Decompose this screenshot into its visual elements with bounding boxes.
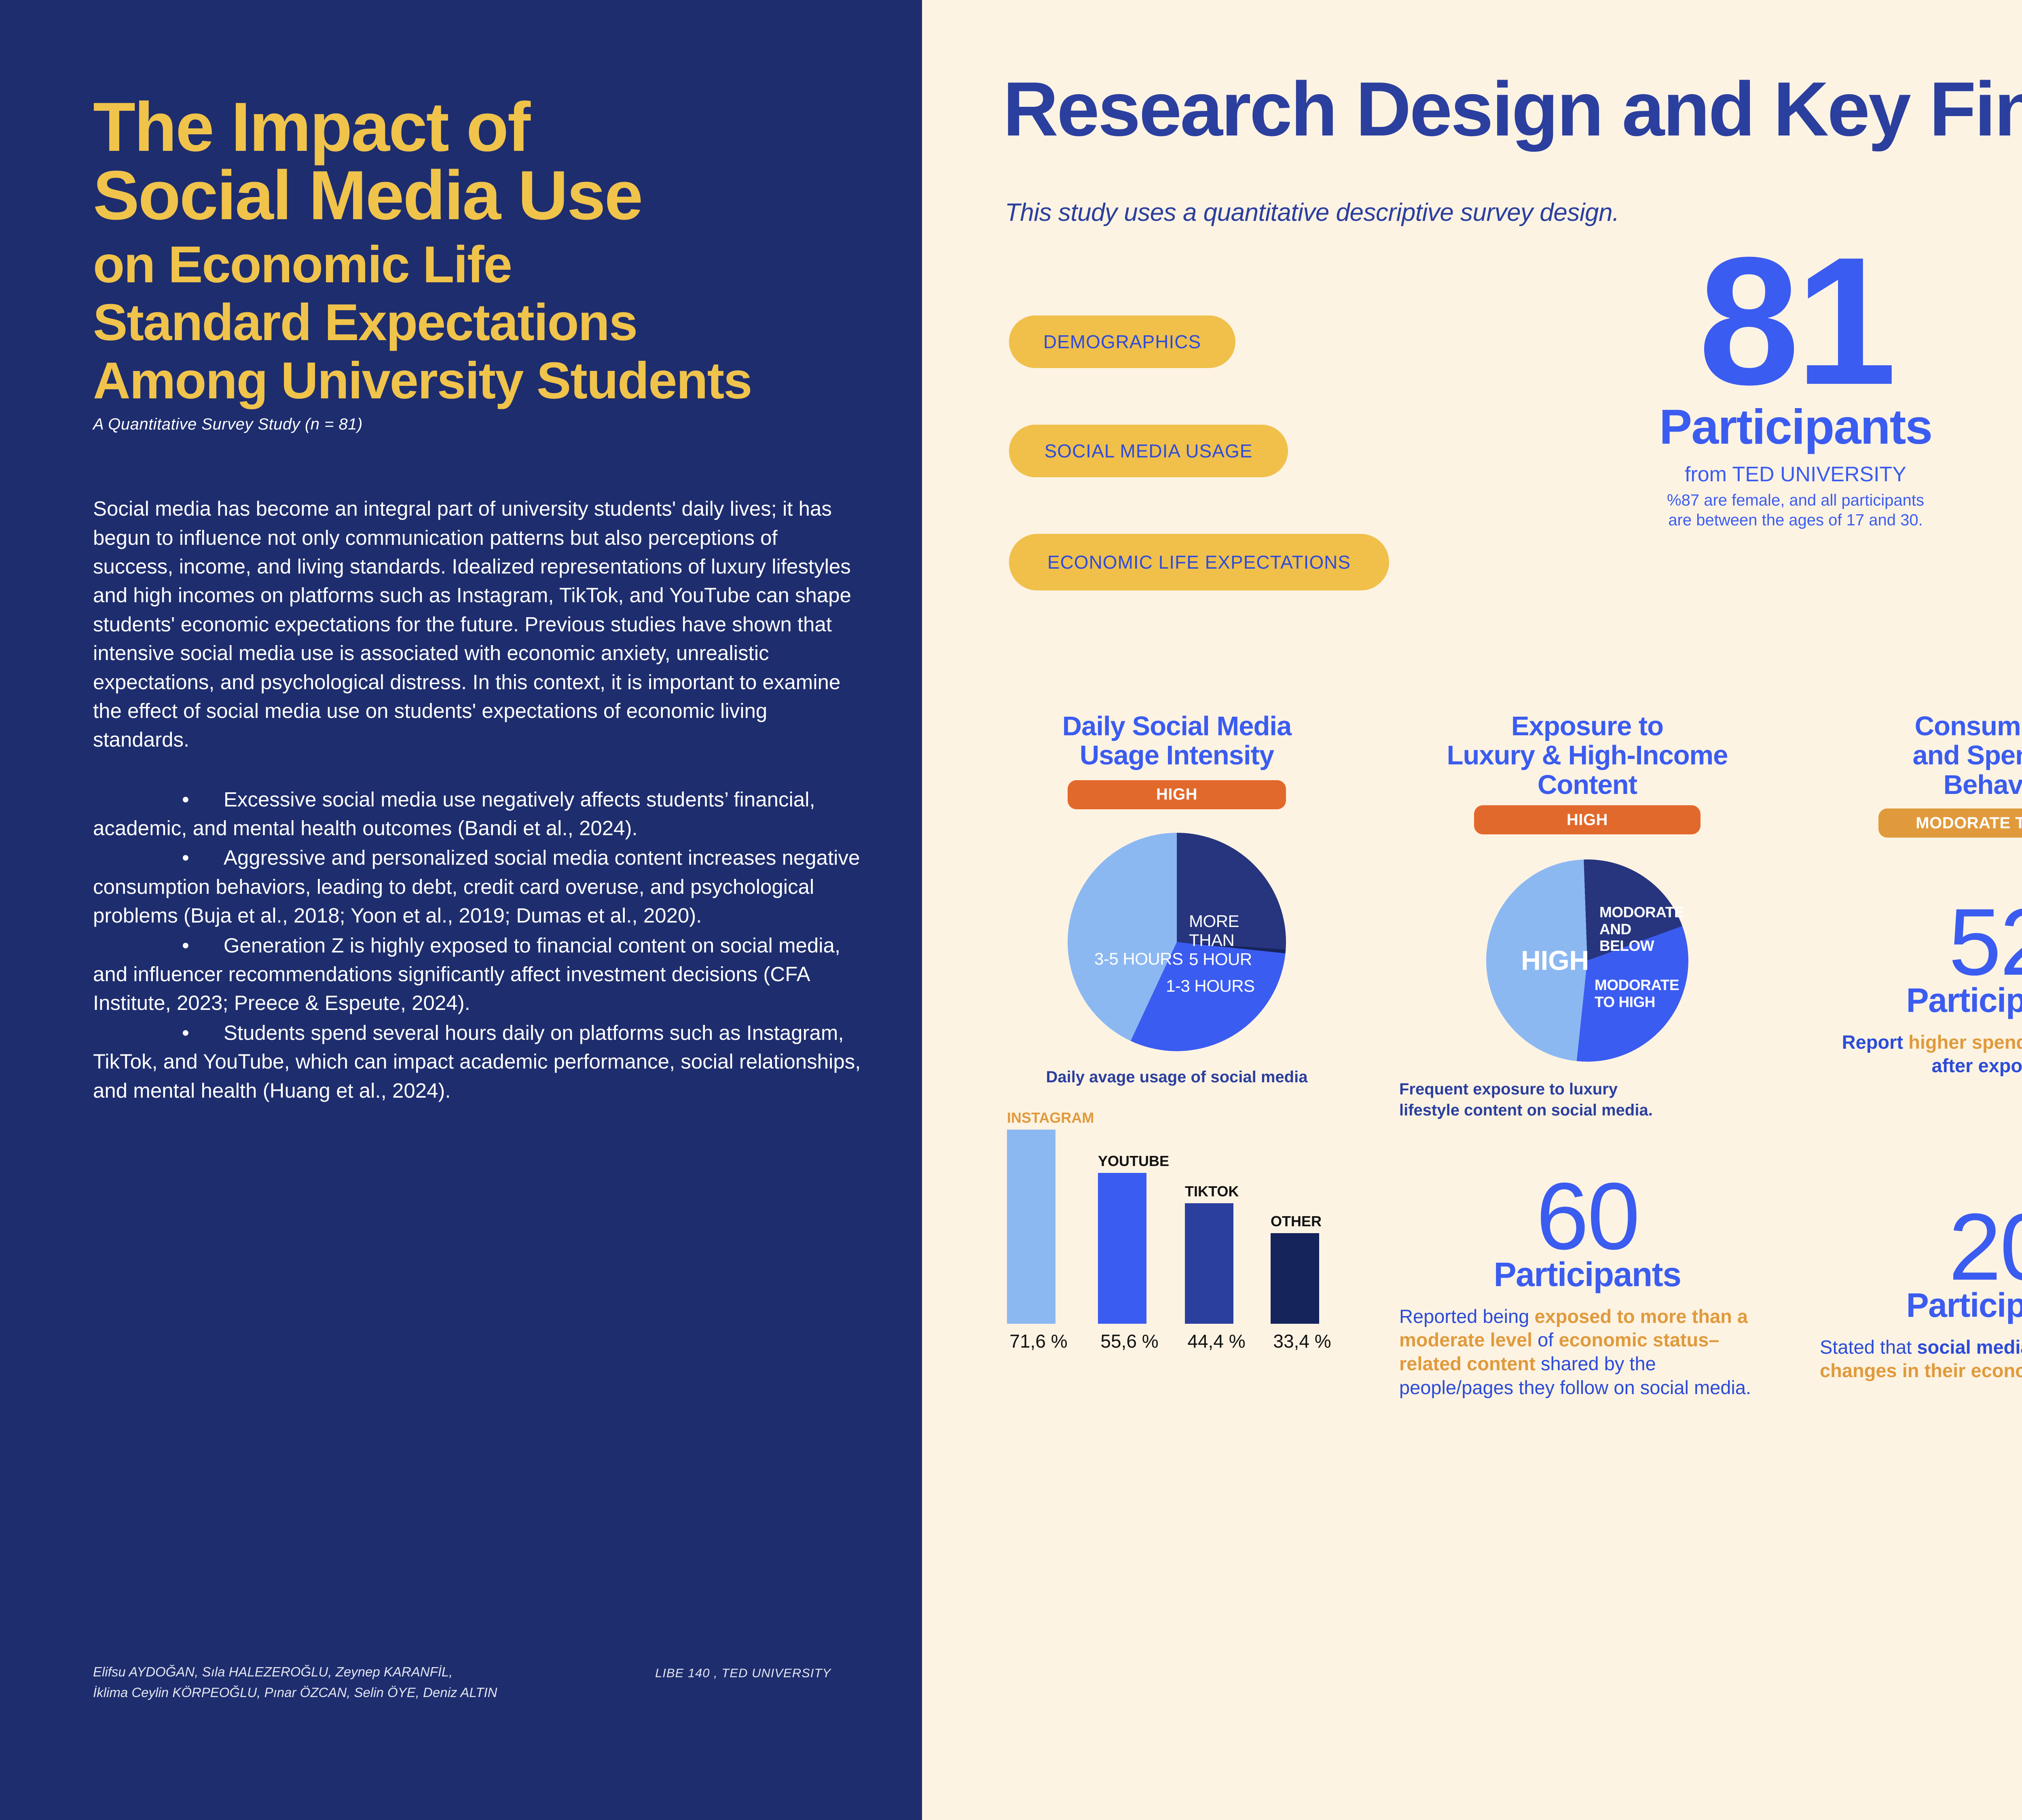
stat-description: Reported being exposed to more than a mo… [1399,1305,1775,1400]
pie-label-1-3h: 1-3 HOURS [1166,976,1255,995]
finding-column-daily-usage: Daily Social Media Usage Intensity HIGH … [999,712,1355,1355]
pie-caption-line-1: Frequent exposure to luxury [1399,1079,1775,1100]
status-badge: HIGH [1474,805,1701,834]
list-item: • Generation Z is highly exposed to fina… [93,931,861,1018]
scope-pill-label: DEMOGRAPHICS [1043,331,1201,353]
pie-label-high: HIGH [1521,945,1589,976]
status-badge: HIGH [1068,780,1286,809]
status-badge-label: HIGH [1567,811,1608,829]
column-title: Consumption and Spending Behavior [1820,712,2022,800]
stat-number: 20 [1820,1204,2022,1290]
page-title: Research Design and Key Findings [1003,71,2022,148]
pie-label-moderate-to-high: MODORATETO HIGH [1595,977,1681,1010]
pie-label-moderate-and-below: MODORATEAND BELOW [1599,904,1680,954]
stat-label: Participants [1820,1286,2022,1325]
column-title: Exposure to Luxury & High-Income Content [1399,712,1775,800]
scope-pill-label: SOCIAL MEDIA USAGE [1045,440,1253,462]
stat-number: 60 [1399,1173,1775,1259]
stat-number: 52 [1820,899,2022,985]
stat-description: Stated that social media use causes chan… [1820,1335,2022,1383]
status-badge-label: MODORATE TO HIGH [1916,814,2022,832]
list-item: • Aggressive and personalized social med… [93,843,861,930]
participants-summary: 81 Participants from TED UNIVERSITY %87 … [1593,247,1998,530]
bar-item-other: OTHER 33,4 % [1271,1233,1319,1324]
page-subtitle: This study uses a quantitative descripti… [1005,198,1619,227]
stat-label: Participants [1820,981,2022,1020]
author-credits: Elifsu AYDOĞAN, Sıla HALEZEROĞLU, Zeynep… [93,1661,679,1703]
poster-title-line-2: Social Media Use [93,161,861,230]
participants-source: from TED UNIVERSITY [1593,462,1998,487]
bar-value: 44,4 % [1176,1330,1257,1352]
bar-chart-platforms: INSTAGRAM 71,6 % YOUTUBE 55,6 % TIKTOK 4… [999,1109,1355,1355]
status-badge-label: HIGH [1156,785,1197,804]
bar-value: 33,4 % [1262,1330,1343,1352]
stat-label: Participants [1399,1255,1775,1294]
finding-column-luxury-exposure: Exposure to Luxury & High-Income Content… [1399,712,1775,1400]
participants-count-label: Participants [1593,398,1998,455]
bar-label: INSTAGRAM [1007,1109,1084,1126]
bar-label: TIKTOK [1185,1183,1262,1200]
intro-paragraph: Social media has become an integral part… [93,494,861,754]
main-content-panel: Research Design and Key Findings This st… [922,0,2022,1820]
pie-chart-caption: Daily avage usage of social media [999,1067,1355,1088]
scope-pill-social-media-usage[interactable]: SOCIAL MEDIA USAGE [1009,425,1288,477]
study-subtitle-note: A Quantitative Survey Study (n = 81) [93,415,861,434]
pie-label-3-5h: 3-5 HOURS [1094,949,1183,968]
list-item: • Students spend several hours daily on … [93,1018,861,1105]
participants-count: 81 [1593,247,1998,396]
bar-item-instagram: INSTAGRAM 71,6 % [1007,1130,1055,1324]
bar-label: YOUTUBE [1098,1153,1175,1170]
column-title: Daily Social Media Usage Intensity [999,712,1355,770]
stat-60-participants: 60 Participants Reported being exposed t… [1399,1173,1775,1400]
status-badge: MODORATE TO HIGH [1878,808,2022,838]
findings-bullet-list: • Excessive social media use negatively … [93,785,861,1105]
poster-title-line-3: on Economic Life Standard Expectations A… [93,236,861,410]
pie-chart-daily-usage: MORE THAN5 HOUR 1-3 HOURS 3-5 HOURS [1068,833,1286,1051]
finding-column-consumption: Consumption and Spending Behavior MODORA… [1820,712,2022,1383]
stat-20-participants: 20 Participants Stated that social media… [1820,1204,2022,1383]
pie-chart-caption: Frequent exposure to luxury lifestyle co… [1399,1079,1775,1121]
scope-pill-label: ECONOMIC LIFE EXPECTATIONS [1047,551,1351,573]
bar-label: OTHER [1271,1213,1347,1230]
bar-value: 71,6 % [998,1330,1079,1352]
list-item: • Excessive social media use negatively … [93,785,861,843]
course-affiliation: LIBE 140 , TED UNIVERSITY [655,1666,831,1680]
scope-pill-demographics[interactable]: DEMOGRAPHICS [1009,315,1235,368]
pie-label-more-than-5h: MORE THAN5 HOUR [1189,912,1286,969]
pie-caption-line-2: lifestyle content on social media. [1399,1100,1775,1121]
stat-description: Report higher spending motivation after … [1820,1031,2022,1078]
poster-title-line-1: The Impact of [93,93,861,161]
bar-item-tiktok: TIKTOK 44,4 % [1185,1203,1233,1324]
stat-52-participants: 52 Participants Report higher spending m… [1820,899,2022,1078]
pie-chart-luxury-exposure: MODORATEAND BELOW MODORATETO HIGH HIGH [1486,859,1688,1062]
left-info-panel: The Impact of Social Media Use on Econom… [0,0,922,1820]
bar-value: 55,6 % [1089,1330,1170,1352]
bar-item-youtube: YOUTUBE 55,6 % [1098,1173,1146,1324]
participants-note: %87 are female, and all participants are… [1593,491,1998,530]
scope-pill-economic-life-expectations[interactable]: ECONOMIC LIFE EXPECTATIONS [1009,534,1389,590]
